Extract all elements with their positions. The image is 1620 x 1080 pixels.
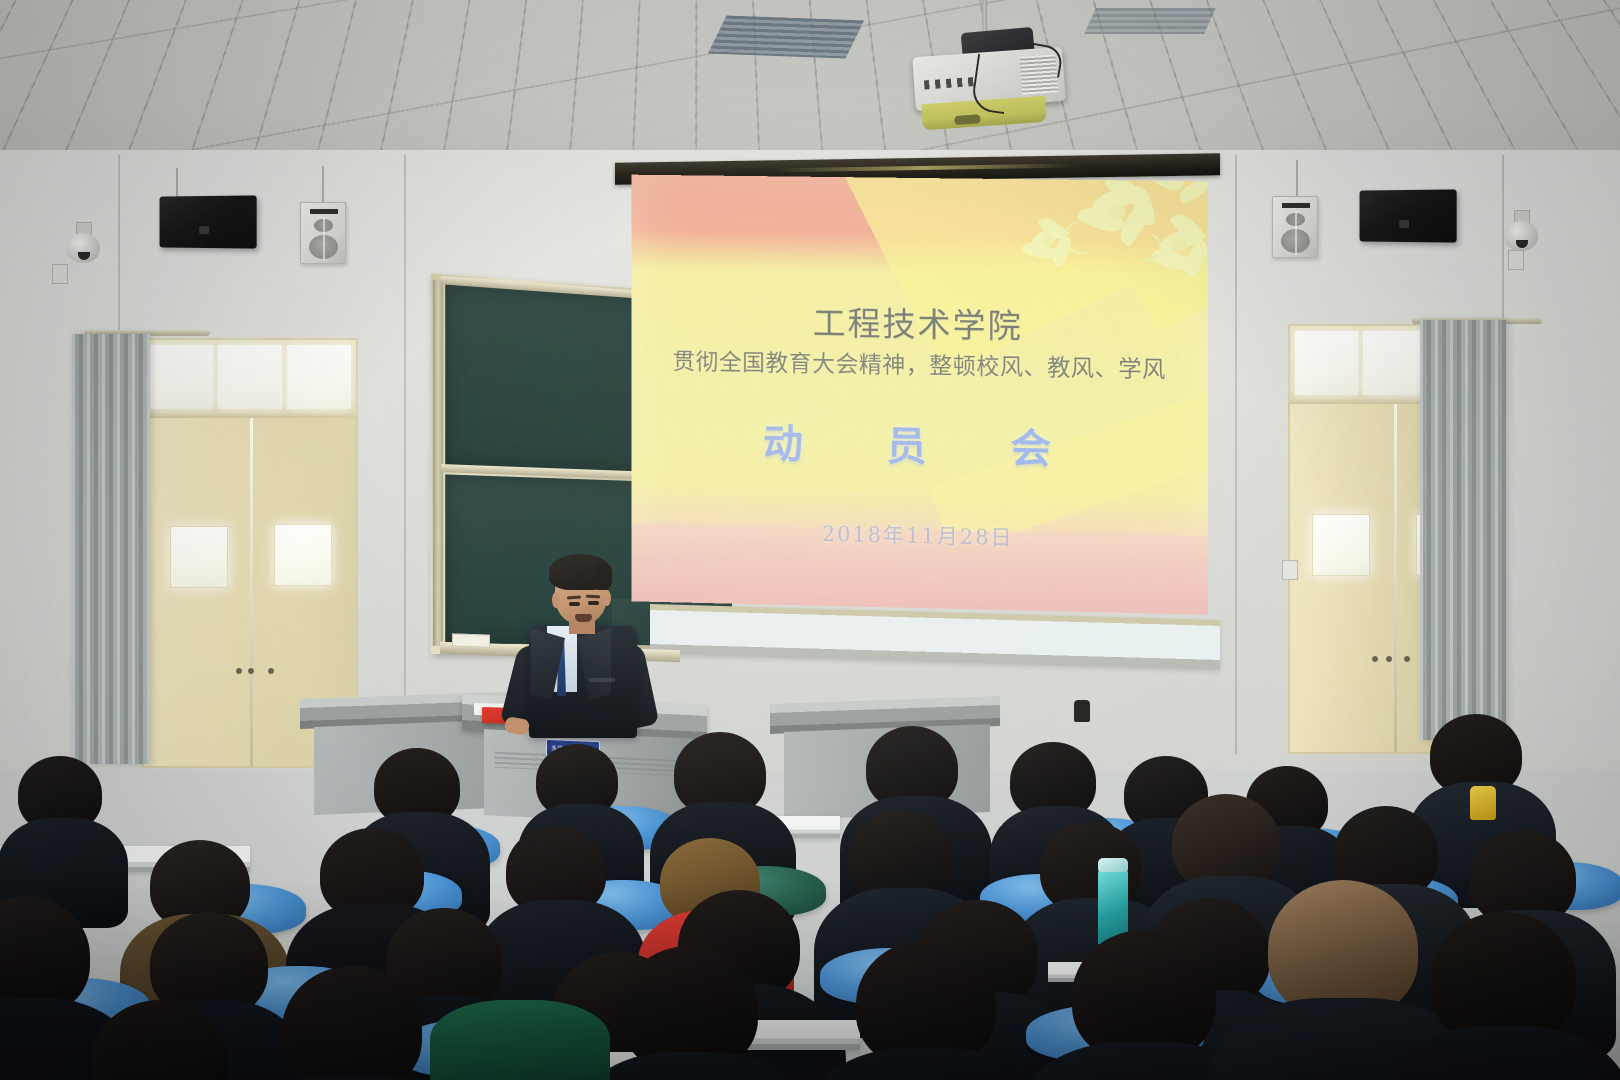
door-handle[interactable] xyxy=(236,668,242,674)
ceiling-air-vent xyxy=(708,16,864,59)
door-handle[interactable] xyxy=(1372,656,1378,662)
blackboard-side-rail xyxy=(433,280,443,646)
speaker-divider xyxy=(323,217,325,261)
presenter-ear xyxy=(603,590,611,606)
speaker-slot xyxy=(1282,203,1310,208)
light-switch-right[interactable] xyxy=(1282,560,1298,580)
wall-sensor-box xyxy=(1074,700,1090,722)
transom-pane xyxy=(1295,331,1358,395)
speaker-cable-right xyxy=(1296,160,1298,200)
transom-window-left xyxy=(142,338,358,416)
wall-seam xyxy=(404,155,406,755)
presenter-ear xyxy=(552,592,560,608)
door-handle[interactable] xyxy=(1404,656,1410,662)
door-center-split xyxy=(250,418,253,766)
presentation-slide: 工程技术学院 贯彻全国教育大会精神，整顿校风、教风、学风 动 员 会 2018年… xyxy=(631,175,1208,615)
door-window-pane xyxy=(1312,514,1370,576)
speaker-slot xyxy=(310,209,338,214)
dome-camera-left xyxy=(62,222,106,266)
wall-speaker-white-right xyxy=(1272,196,1318,258)
door-handle[interactable] xyxy=(1386,656,1392,662)
ceiling-air-vent-secondary xyxy=(1084,8,1216,34)
door-window-pane xyxy=(170,526,228,588)
presenter-mouth xyxy=(575,614,592,622)
door-handle[interactable] xyxy=(248,668,254,674)
speaker-cable-left-2 xyxy=(322,166,324,206)
wall-plate-left xyxy=(52,264,68,284)
curtain-right[interactable] xyxy=(1420,320,1506,740)
projection-screen: 工程技术学院 贯彻全国教育大会精神，整顿校风、教风、学风 动 员 会 2018年… xyxy=(615,158,1220,628)
curtain-left[interactable] xyxy=(72,334,150,764)
ceiling xyxy=(0,0,1620,175)
presenter-pocket xyxy=(589,678,615,682)
presenter-eye xyxy=(569,602,580,606)
wall-seam xyxy=(1235,155,1237,755)
bottle-cap xyxy=(1098,858,1128,872)
projector-ports xyxy=(924,77,978,90)
presenter-eye xyxy=(588,601,599,605)
screen-roller-highlight xyxy=(775,164,1075,173)
transom-pane xyxy=(1363,331,1426,395)
ceiling-projector xyxy=(900,0,1080,130)
wall-speaker-black-right xyxy=(1360,189,1457,242)
projector-lens xyxy=(954,114,981,125)
door-center-split xyxy=(1394,404,1397,752)
door-handle[interactable] xyxy=(268,668,274,674)
lecture-hall-photo: 工程技术学院 贯彻全国教育大会精神，整顿校风、教风、学风 动 员 会 2018年… xyxy=(0,0,1620,1080)
attendee-green-jacket-body xyxy=(430,1000,610,1080)
dome-camera-right xyxy=(1500,210,1544,254)
chalk-box xyxy=(452,633,490,647)
presenter-eyebrow xyxy=(586,595,600,599)
transom-pane xyxy=(218,345,282,409)
transom-pane xyxy=(287,345,351,409)
presenter-eyebrow xyxy=(567,596,581,600)
wall-speaker-white-left xyxy=(300,202,346,264)
slide-main-heading: 动 员 会 xyxy=(631,409,1208,478)
door-window-pane xyxy=(274,524,332,586)
presenter-hair xyxy=(549,554,612,590)
wall-plate-right xyxy=(1508,250,1524,270)
presenter xyxy=(505,550,655,740)
yellow-cup xyxy=(1470,786,1496,820)
transom-pane xyxy=(149,345,213,409)
wall-speaker-black-left xyxy=(160,195,257,248)
speaker-divider xyxy=(1295,211,1297,255)
